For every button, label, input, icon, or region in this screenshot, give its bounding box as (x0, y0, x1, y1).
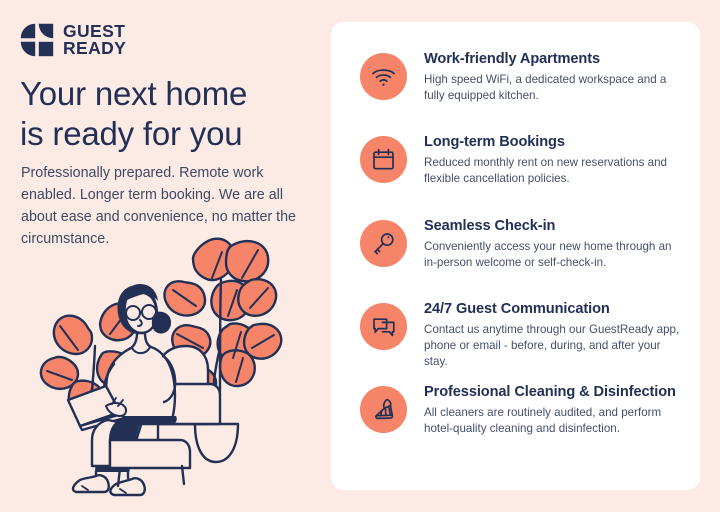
feature-body: Long-term Bookings Reduced monthly rent … (424, 134, 680, 187)
chat-bubbles-icon (360, 303, 407, 350)
brand-wordmark: GUEST READY (63, 23, 126, 57)
feature-item-long-term-bookings[interactable]: Long-term Bookings Reduced monthly rent … (360, 134, 680, 187)
feature-description: High speed WiFi, a dedicated workspace a… (424, 72, 680, 104)
calendar-icon (360, 136, 407, 183)
headline-line-2: is ready for you (20, 114, 320, 154)
feature-body: Professional Cleaning & Disinfection All… (424, 384, 680, 437)
feature-list: Work-friendly Apartments High speed WiFi… (331, 22, 700, 60)
marketing-poster: GUEST READY Your next home is ready for … (0, 0, 720, 512)
feature-description: All cleaners are routinely audited, and … (424, 405, 680, 437)
feature-body: Seamless Check-in Conveniently access yo… (424, 218, 680, 271)
brand-wordmark-line2: READY (63, 40, 126, 57)
headline-line-1: Your next home (20, 75, 247, 112)
feature-title: 24/7 Guest Communication (424, 301, 680, 319)
feature-item-professional-cleaning[interactable]: Professional Cleaning & Disinfection All… (360, 384, 680, 437)
feature-description: Conveniently access your new home throug… (424, 239, 680, 271)
left-panel: GUEST READY Your next home is ready for … (0, 0, 331, 512)
feature-description: Reduced monthly rent on new reservations… (424, 155, 680, 187)
feature-description: Contact us anytime through our GuestRead… (424, 322, 680, 371)
feature-body: 24/7 Guest Communication Contact us anyt… (424, 301, 680, 370)
features-card: Work-friendly Apartments High speed WiFi… (331, 22, 700, 490)
feature-title: Professional Cleaning & Disinfection (424, 384, 680, 402)
page-title: Your next home is ready for you (20, 74, 320, 153)
feature-item-guest-communication[interactable]: 24/7 Guest Communication Contact us anyt… (360, 301, 680, 370)
feature-title: Seamless Check-in (424, 218, 680, 236)
feature-body: Work-friendly Apartments High speed WiFi… (424, 51, 680, 104)
broom-icon (360, 386, 407, 433)
wifi-icon (360, 53, 407, 100)
feature-item-seamless-check-in[interactable]: Seamless Check-in Conveniently access yo… (360, 218, 680, 271)
guestready-quadrant-logo-icon (20, 23, 54, 57)
key-icon (360, 220, 407, 267)
feature-title: Work-friendly Apartments (424, 51, 680, 69)
feature-title: Long-term Bookings (424, 134, 680, 152)
brand-logo: GUEST READY (20, 23, 126, 57)
feature-item-work-friendly-apartments[interactable]: Work-friendly Apartments High speed WiFi… (360, 51, 680, 104)
woman-with-laptop-in-armchair-with-plants-illustration (24, 228, 314, 498)
